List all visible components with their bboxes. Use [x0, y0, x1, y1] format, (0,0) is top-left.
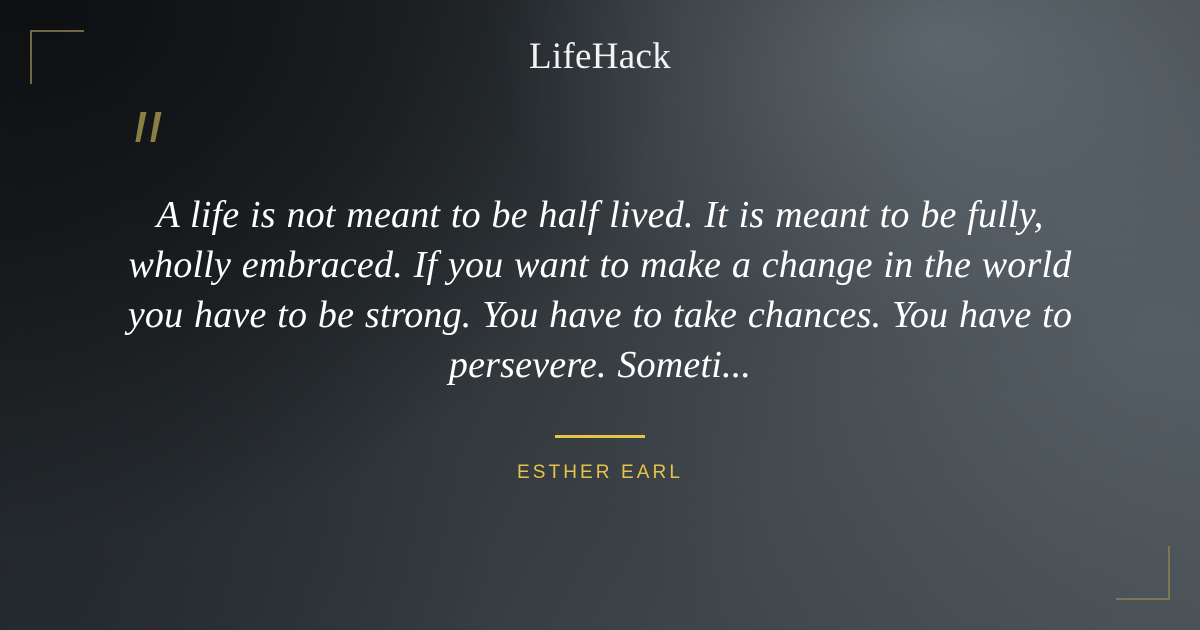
quote-author: ESTHER EARL [0, 463, 1200, 482]
quote-block: A life is not meant to be half lived. It… [60, 190, 1140, 390]
quote-line: you have to be strong. You have to take … [60, 290, 1140, 340]
quote-line: persevere. Someti... [60, 340, 1140, 390]
quotation-mark-icon [126, 108, 172, 164]
gold-divider [555, 435, 645, 438]
quote-line: A life is not meant to be half lived. It… [60, 190, 1140, 240]
corner-bracket-icon-bottom-right [1116, 546, 1170, 600]
quote-card: LifeHack A life is not meant to be half … [0, 0, 1200, 630]
brand-logo: LifeHack [0, 38, 1200, 75]
quote-line: wholly embraced. If you want to make a c… [60, 240, 1140, 290]
